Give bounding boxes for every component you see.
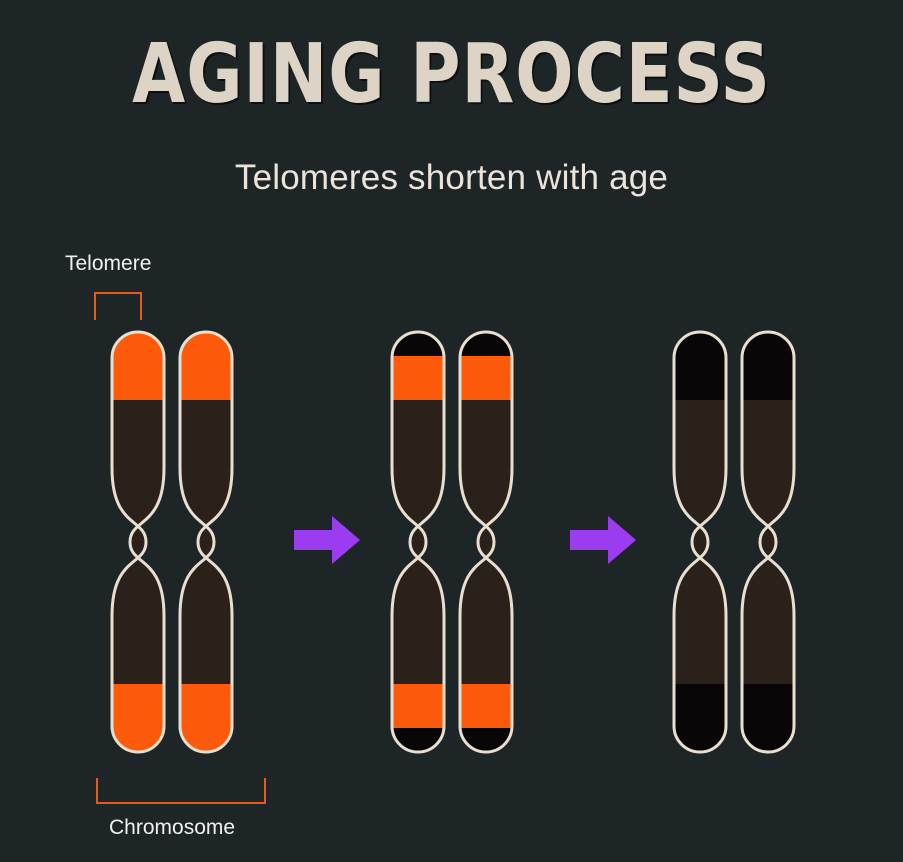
chromosome-stage-1 bbox=[72, 318, 272, 766]
chromosome-body-fill bbox=[72, 318, 272, 766]
bottom-telomere-cap bbox=[634, 684, 834, 766]
chromosome-stage-2 bbox=[352, 318, 552, 766]
bottom-telomere-band bbox=[352, 684, 552, 728]
chromatid-fills-stage-1 bbox=[72, 318, 272, 766]
bottom-telomere-cap bbox=[352, 728, 552, 766]
telomere-label: Telomere bbox=[65, 252, 151, 276]
bottom-telomere-cap bbox=[72, 730, 272, 766]
chromosome-body-fill bbox=[634, 318, 834, 766]
page-subtitle: Telomeres shorten with age bbox=[0, 158, 903, 198]
chromosome-stage-3 bbox=[634, 318, 834, 766]
chromosome-label: Chromosome bbox=[109, 816, 235, 840]
arrow-right-icon bbox=[294, 516, 360, 564]
bottom-telomere-band bbox=[72, 684, 272, 730]
top-telomere-cap bbox=[72, 318, 272, 354]
page-title: AGING PROCESS bbox=[32, 32, 872, 118]
chromosome-body-fill bbox=[352, 318, 552, 766]
telomere-bracket bbox=[94, 292, 142, 320]
chromosome-bracket bbox=[96, 778, 266, 804]
arrow-stage-2-to-3 bbox=[568, 512, 638, 568]
infographic-canvas: AGING PROCESS Telomeres shorten with age… bbox=[0, 0, 903, 862]
top-telomere-cap bbox=[634, 318, 834, 400]
chromatid-fills-stage-3 bbox=[634, 318, 834, 766]
chromatid-fills-stage-2 bbox=[352, 318, 552, 766]
aging-process-diagram bbox=[0, 318, 903, 778]
top-telomere-band bbox=[72, 354, 272, 400]
top-telomere-band bbox=[352, 356, 552, 400]
arrow-right-icon bbox=[570, 516, 636, 564]
top-telomere-cap bbox=[352, 318, 552, 356]
